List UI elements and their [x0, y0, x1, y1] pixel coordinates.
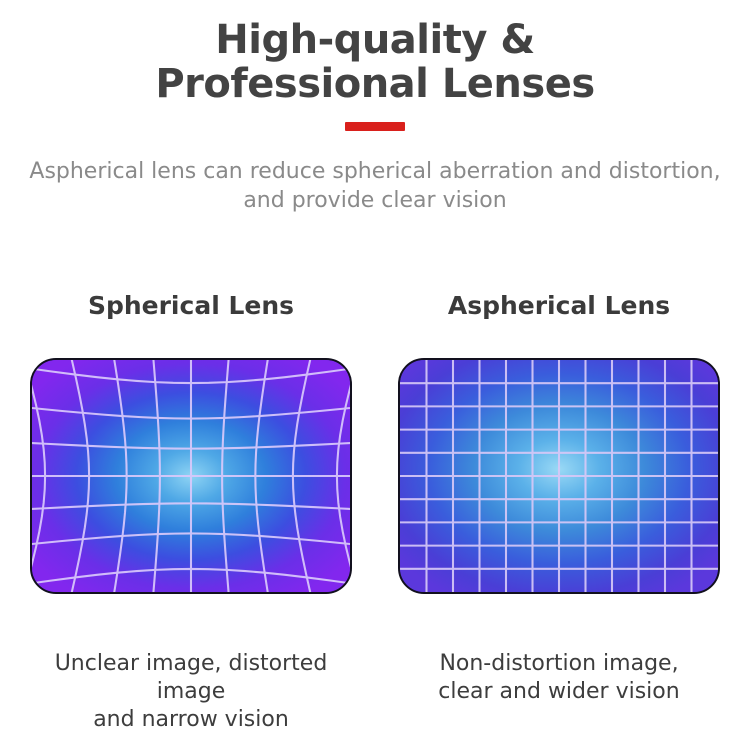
aspherical-lens-column: Aspherical Lens	[398, 286, 720, 734]
page-title-line-1: High-quality &	[0, 18, 750, 62]
infographic-page: High-quality & Professional Lenses Asphe…	[0, 0, 750, 750]
accent-underline	[345, 122, 405, 131]
aspherical-grid-svg	[400, 360, 718, 592]
lens-comparison: Spherical Lens	[0, 286, 750, 734]
header-block: High-quality & Professional Lenses Asphe…	[0, 0, 750, 215]
page-title-line-2: Professional Lenses	[0, 62, 750, 106]
aspherical-lens-heading: Aspherical Lens	[448, 286, 670, 326]
subtitle-line-2: and provide clear vision	[0, 186, 750, 215]
aspherical-lens-caption: Non-distortion image, clear and wider vi…	[438, 650, 679, 706]
spherical-lens-column: Spherical Lens	[30, 286, 352, 734]
spherical-lens-image	[30, 358, 352, 594]
aspherical-lens-image	[398, 358, 720, 594]
spherical-lens-heading: Spherical Lens	[88, 286, 294, 326]
spherical-grid-svg	[32, 360, 350, 592]
subtitle-line-1: Aspherical lens can reduce spherical abe…	[0, 157, 750, 186]
spherical-lens-caption: Unclear image, distorted image and narro…	[30, 650, 352, 734]
